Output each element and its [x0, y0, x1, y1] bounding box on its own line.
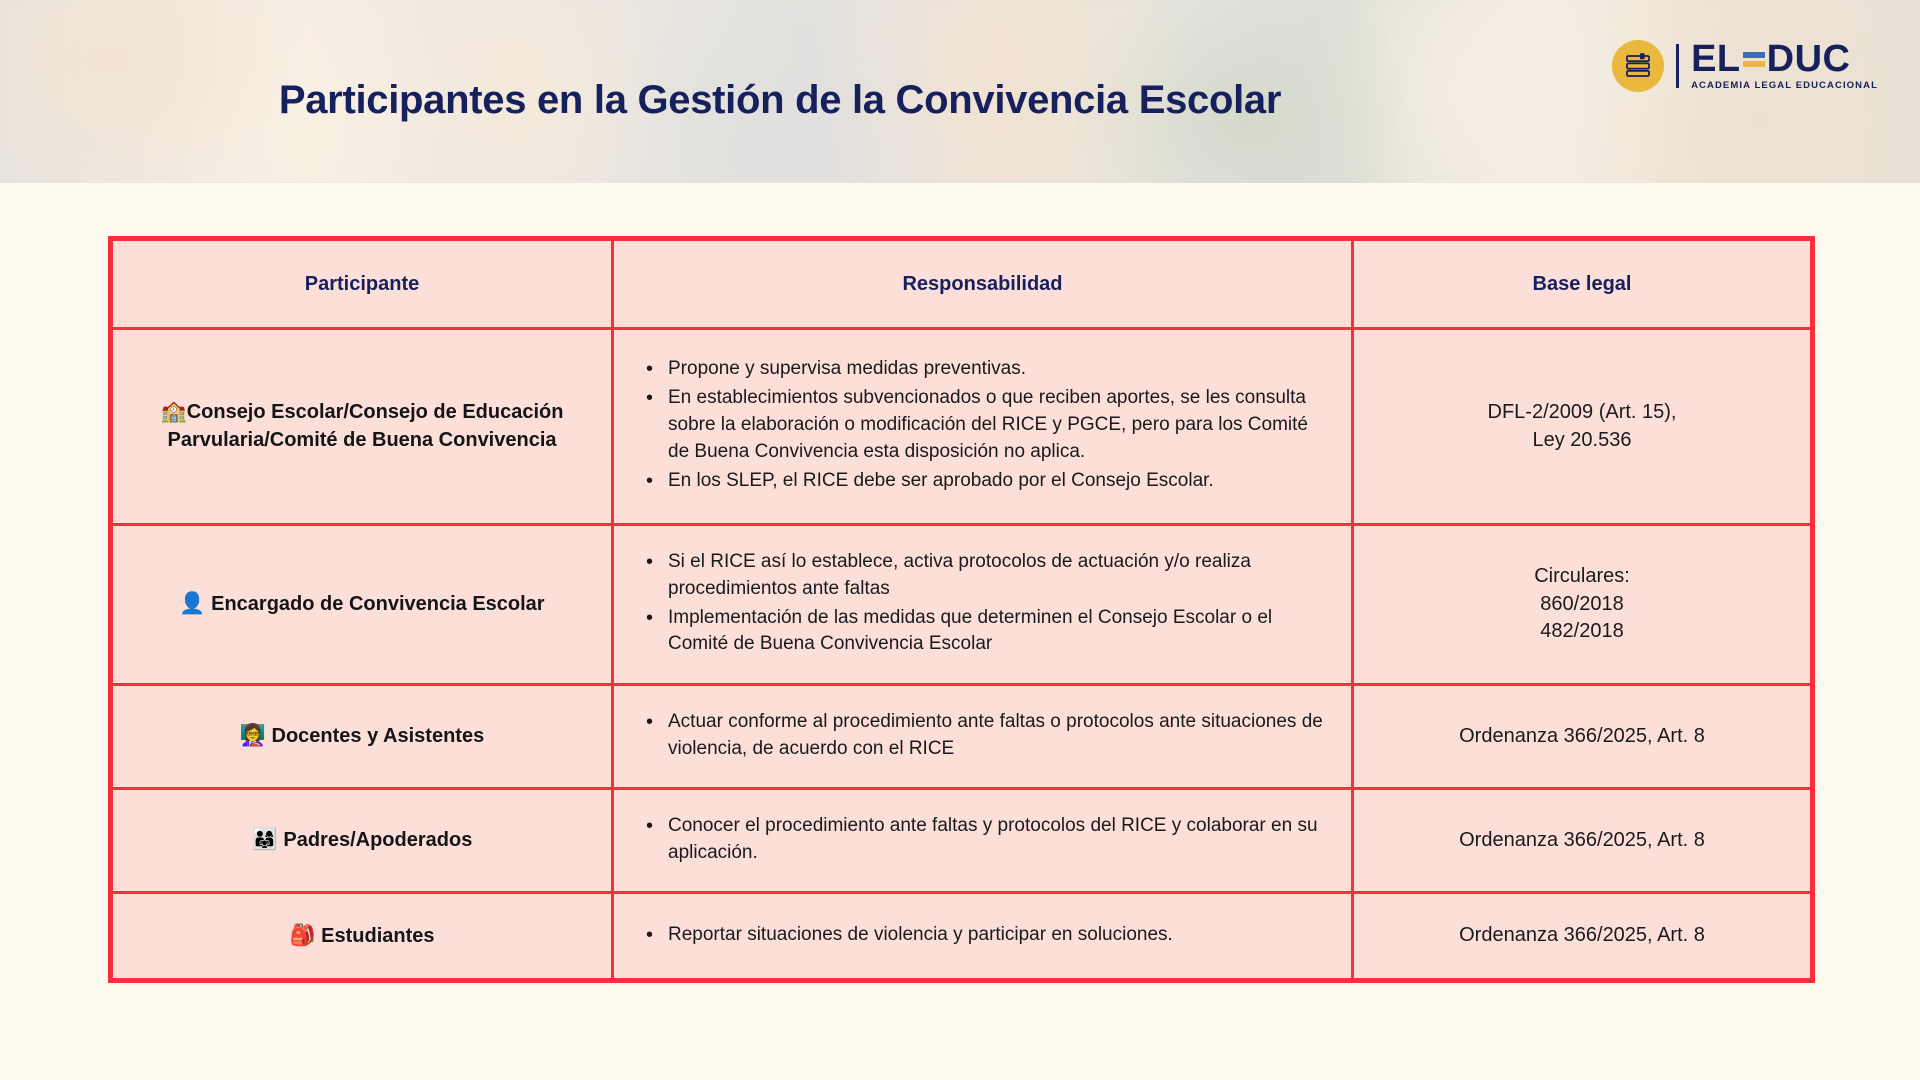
responsibility-list: Reportar situaciones de violencia y part… — [644, 922, 1325, 949]
participant-label: Encargado de Convivencia Escolar — [211, 593, 544, 615]
list-item: Conocer el procedimiento ante faltas y p… — [644, 813, 1325, 867]
table-row: 👤 Encargado de Convivencia Escolar Si el… — [111, 525, 1813, 685]
family-icon: 👨‍👩‍👧 — [252, 828, 278, 851]
legal-basis-cell: Ordenanza 366/2025, Art. 8 — [1353, 685, 1813, 789]
participant-cell: 👤 Encargado de Convivencia Escolar — [111, 525, 613, 685]
legal-basis-cell: Ordenanza 366/2025, Art. 8 — [1353, 893, 1813, 981]
logo-subtitle: ACADEMIA LEGAL EDUCACIONAL — [1691, 80, 1878, 91]
logo-divider — [1676, 44, 1679, 88]
legal-basis-cell: Ordenanza 366/2025, Art. 8 — [1353, 789, 1813, 893]
column-header-participante: Participante — [111, 239, 613, 329]
list-item: Si el RICE así lo establece, activa prot… — [644, 549, 1325, 603]
participants-table: Participante Responsabilidad Base legal … — [108, 236, 1815, 983]
table-header-row: Participante Responsabilidad Base legal — [111, 239, 1813, 329]
legal-line: Circulares: — [1372, 563, 1792, 591]
participant-label: Padres/Apoderados — [283, 829, 472, 851]
school-building-icon: 🏫 — [161, 400, 187, 423]
logo-wordmark: EL DUC ACADEMIA LEGAL EDUCACIONAL — [1691, 41, 1878, 91]
participant-cell: 🎒 Estudiantes — [111, 893, 613, 981]
legal-line: 860/2018 — [1372, 591, 1792, 619]
responsibility-list: Conocer el procedimiento ante faltas y p… — [644, 813, 1325, 867]
stacked-books-icon — [1612, 40, 1664, 92]
participant-cell: 👨‍👩‍👧 Padres/Apoderados — [111, 789, 613, 893]
list-item: En los SLEP, el RICE debe ser aprobado p… — [644, 468, 1325, 495]
legal-line: Ordenanza 366/2025, Art. 8 — [1372, 827, 1792, 855]
table-body: 🏫Consejo Escolar/Consejo de Educación Pa… — [111, 329, 1813, 981]
legal-line: DFL-2/2009 (Art. 15), — [1372, 399, 1792, 427]
participants-table-container: Participante Responsabilidad Base legal … — [108, 236, 1810, 983]
eleduc-logo: EL DUC ACADEMIA LEGAL EDUCACIONAL — [1612, 40, 1878, 92]
participant-label: Docentes y Asistentes — [272, 725, 485, 747]
list-item: Reportar situaciones de violencia y part… — [644, 922, 1325, 949]
list-item: Implementación de las medidas que determ… — [644, 605, 1325, 659]
table-row: 🎒 Estudiantes Reportar situaciones de vi… — [111, 893, 1813, 981]
backpack-icon: 🎒 — [289, 924, 315, 947]
legal-line: 482/2018 — [1372, 618, 1792, 646]
list-item: Actuar conforme al procedimiento ante fa… — [644, 709, 1325, 763]
logo-word-left: EL — [1691, 41, 1741, 77]
list-item: Propone y supervisa medidas preventivas. — [644, 356, 1325, 383]
teacher-icon: 👩‍🏫 — [240, 724, 266, 747]
table-row: 👩‍🏫 Docentes y Asistentes Actuar conform… — [111, 685, 1813, 789]
legal-basis-cell: DFL-2/2009 (Art. 15), Ley 20.536 — [1353, 329, 1813, 525]
legal-line: Ley 20.536 — [1372, 427, 1792, 455]
legal-line: Ordenanza 366/2025, Art. 8 — [1372, 723, 1792, 751]
equals-bars-icon — [1743, 52, 1765, 67]
participant-label: Consejo Escolar/Consejo de Educación Par… — [167, 401, 563, 451]
list-item: En establecimientos subvencionados o que… — [644, 385, 1325, 466]
responsibility-cell: Propone y supervisa medidas preventivas.… — [613, 329, 1353, 525]
table-row: 🏫Consejo Escolar/Consejo de Educación Pa… — [111, 329, 1813, 525]
person-silhouette-icon: 👤 — [179, 592, 205, 615]
responsibility-cell: Conocer el procedimiento ante faltas y p… — [613, 789, 1353, 893]
logo-word-right: DUC — [1767, 41, 1851, 77]
legal-basis-cell: Circulares: 860/2018 482/2018 — [1353, 525, 1813, 685]
column-header-base-legal: Base legal — [1353, 239, 1813, 329]
table-row: 👨‍👩‍👧 Padres/Apoderados Conocer el proce… — [111, 789, 1813, 893]
legal-line: Ordenanza 366/2025, Art. 8 — [1372, 922, 1792, 950]
participant-label: Estudiantes — [321, 925, 434, 947]
participant-cell: 🏫Consejo Escolar/Consejo de Educación Pa… — [111, 329, 613, 525]
responsibility-list: Propone y supervisa medidas preventivas.… — [644, 356, 1325, 495]
logo-word-row: EL DUC — [1691, 41, 1878, 77]
responsibility-cell: Reportar situaciones de violencia y part… — [613, 893, 1353, 981]
responsibility-cell: Si el RICE así lo establece, activa prot… — [613, 525, 1353, 685]
column-header-responsabilidad: Responsabilidad — [613, 239, 1353, 329]
participant-cell: 👩‍🏫 Docentes y Asistentes — [111, 685, 613, 789]
responsibility-list: Si el RICE así lo establece, activa prot… — [644, 549, 1325, 659]
page-banner: Participantes en la Gestión de la Conviv… — [0, 0, 1920, 183]
responsibility-list: Actuar conforme al procedimiento ante fa… — [644, 709, 1325, 763]
responsibility-cell: Actuar conforme al procedimiento ante fa… — [613, 685, 1353, 789]
